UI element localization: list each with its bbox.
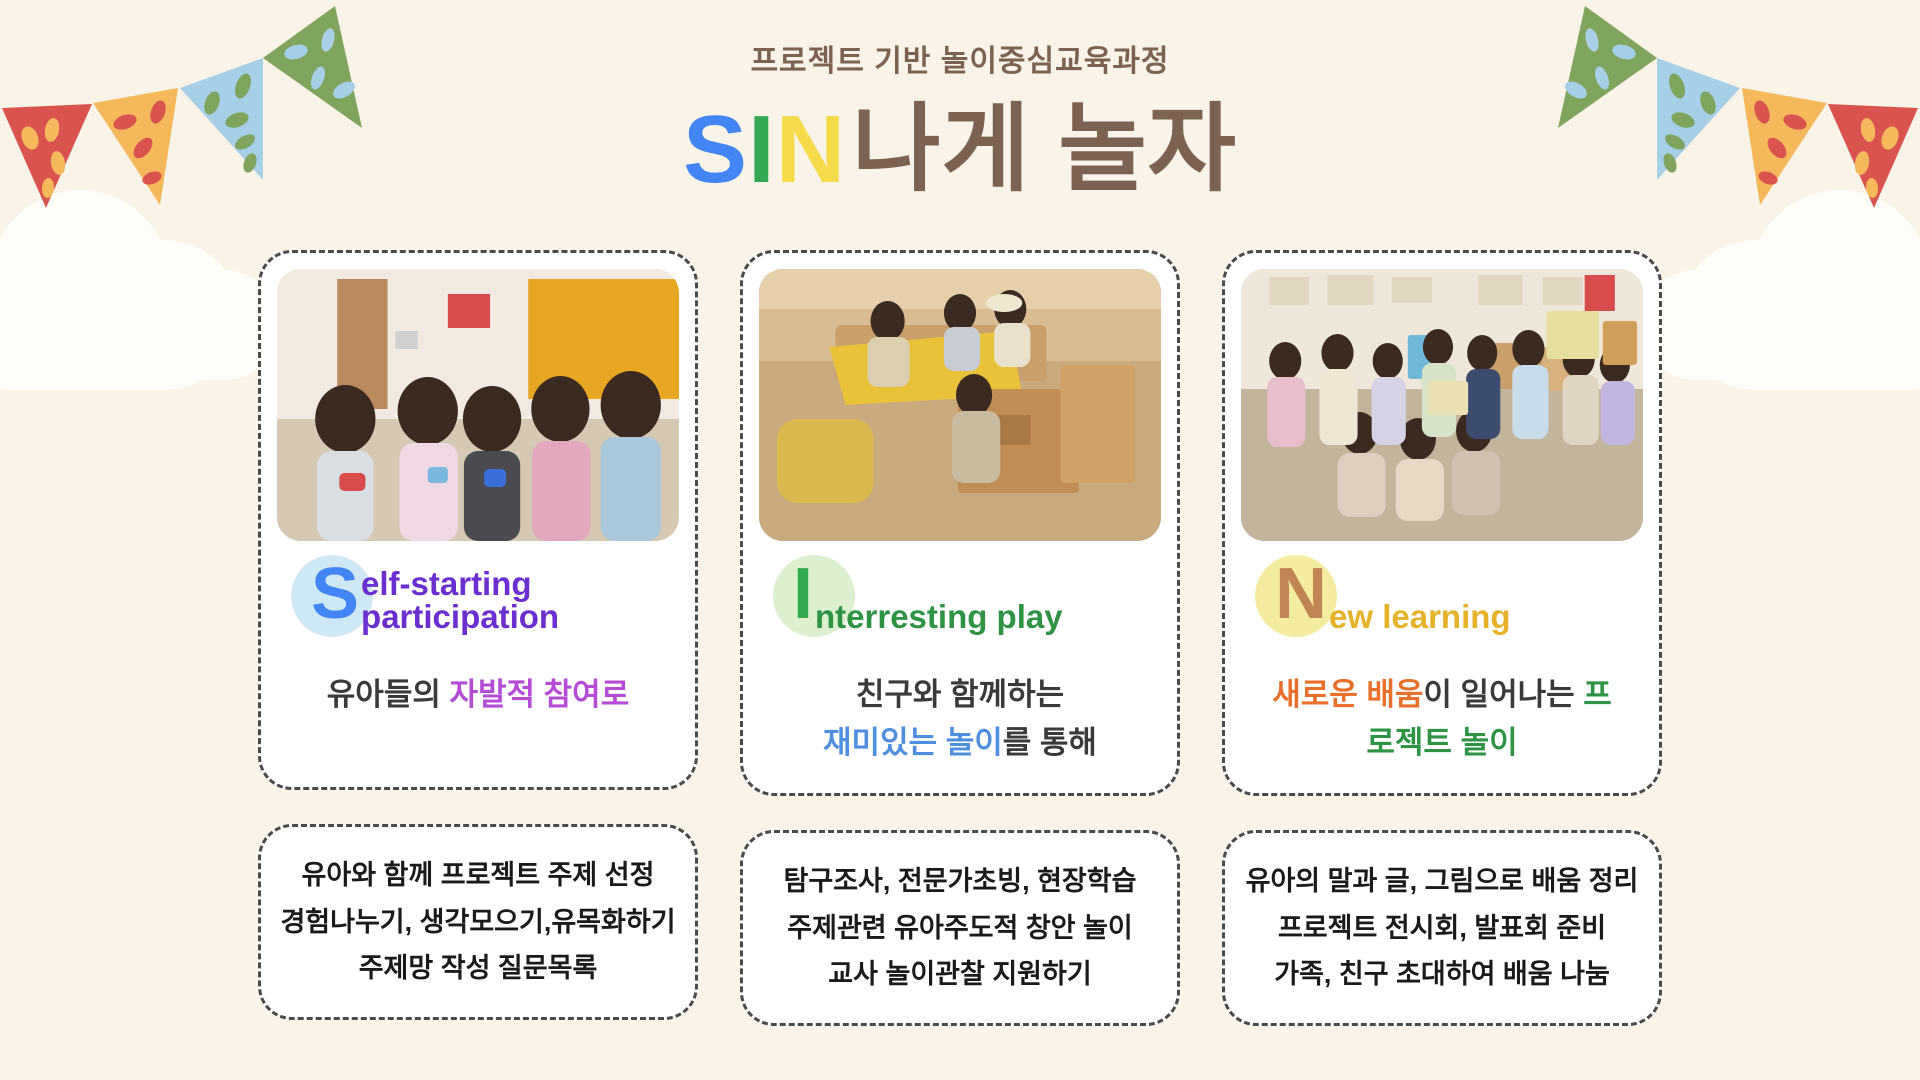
keyword-initial-letter: N bbox=[1275, 558, 1327, 630]
concept-description: 친구와 함께하는재미있는 놀이를 통해 bbox=[759, 671, 1161, 767]
description-segment: 를 통해 bbox=[1003, 725, 1097, 760]
card-column-2: Interresting play친구와 함께하는재미있는 놀이를 통해탐구조사… bbox=[740, 250, 1180, 1026]
title-letter-i: I bbox=[748, 102, 776, 198]
concept-description: 유아들의 자발적 참여로 bbox=[277, 671, 679, 719]
description-line: 친구와 함께하는 bbox=[759, 671, 1161, 719]
activity-line: 주제관련 유아주도적 창안 놀이 bbox=[757, 910, 1163, 946]
concept-description: 새로운 배움이 일어나는 프로젝트 놀이 bbox=[1241, 671, 1643, 767]
keyword-row: Self-starting participation bbox=[277, 551, 679, 637]
activity-card[interactable]: 유아와 함께 프로젝트 주제 선정경험나누기, 생각모으기,유목화하기주제망 작… bbox=[258, 824, 698, 1020]
concept-card[interactable]: Interresting play친구와 함께하는재미있는 놀이를 통해 bbox=[740, 250, 1180, 796]
keyword-label: nterresting play bbox=[815, 600, 1063, 637]
description-segment: 이 일어나는 bbox=[1423, 677, 1583, 712]
poster-canvas: 프로젝트 기반 놀이중심교육과정 SIN나게 놀자 bbox=[0, 0, 1920, 1080]
activity-card[interactable]: 탐구조사, 전문가초빙, 현장학습주제관련 유아주도적 창안 놀이교사 놀이관찰… bbox=[740, 830, 1180, 1026]
card-column-1: Self-starting participation유아들의 자발적 참여로유… bbox=[258, 250, 698, 1026]
keyword-label: ew learning bbox=[1329, 600, 1511, 637]
description-line: 로젝트 놀이 bbox=[1241, 719, 1643, 767]
title-rest: 나게 놀자 bbox=[852, 102, 1237, 198]
photo-children-cardboard-play bbox=[759, 269, 1161, 541]
activity-card[interactable]: 유아의 말과 글, 그림으로 배움 정리프로젝트 전시회, 발표회 준비가족, … bbox=[1222, 830, 1662, 1026]
activity-line: 주제망 작성 질문목록 bbox=[275, 950, 681, 986]
poster-title: SIN나게 놀자 bbox=[0, 102, 1920, 198]
keyword-row: Interresting play bbox=[759, 551, 1161, 637]
description-segment: 로젝트 놀이 bbox=[1366, 725, 1517, 760]
title-letter-s: S bbox=[683, 102, 748, 198]
keyword-initial-letter: I bbox=[793, 558, 813, 630]
activity-line: 가족, 친구 초대하여 배움 나눔 bbox=[1239, 956, 1645, 992]
poster-header: 프로젝트 기반 놀이중심교육과정 SIN나게 놀자 bbox=[0, 0, 1920, 198]
keyword-row: New learning bbox=[1241, 551, 1643, 637]
description-segment: 재미있는 놀이 bbox=[823, 725, 1003, 760]
concept-card[interactable]: New learning새로운 배움이 일어나는 프로젝트 놀이 bbox=[1222, 250, 1662, 796]
description-segment: 자발적 참여로 bbox=[449, 677, 629, 712]
photo-children-group-presentation bbox=[1241, 269, 1643, 541]
cards-grid: Self-starting participation유아들의 자발적 참여로유… bbox=[0, 250, 1920, 1026]
description-segment: 유아들의 bbox=[327, 677, 450, 712]
activity-line: 프로젝트 전시회, 발표회 준비 bbox=[1239, 910, 1645, 946]
card-column-3: New learning새로운 배움이 일어나는 프로젝트 놀이유아의 말과 글… bbox=[1222, 250, 1662, 1026]
description-line: 유아들의 자발적 참여로 bbox=[277, 671, 679, 719]
activity-line: 교사 놀이관찰 지원하기 bbox=[757, 956, 1163, 992]
description-segment: 프 bbox=[1583, 677, 1612, 712]
keyword-initial-letter: S bbox=[311, 558, 359, 630]
photo-children-holding-toys bbox=[277, 269, 679, 541]
description-line: 재미있는 놀이를 통해 bbox=[759, 719, 1161, 767]
activity-line: 탐구조사, 전문가초빙, 현장학습 bbox=[757, 863, 1163, 899]
activity-line: 유아와 함께 프로젝트 주제 선정 bbox=[275, 857, 681, 893]
title-letter-n: N bbox=[776, 102, 846, 198]
description-segment: 새로운 배움 bbox=[1272, 677, 1423, 712]
activity-line: 유아의 말과 글, 그림으로 배움 정리 bbox=[1239, 863, 1645, 899]
keyword-label: elf-starting participation bbox=[361, 567, 679, 637]
description-line: 새로운 배움이 일어나는 프 bbox=[1241, 671, 1643, 719]
poster-subtitle: 프로젝트 기반 놀이중심교육과정 bbox=[0, 44, 1920, 80]
description-segment: 친구와 함께하는 bbox=[856, 677, 1064, 712]
concept-card[interactable]: Self-starting participation유아들의 자발적 참여로 bbox=[258, 250, 698, 790]
activity-line: 경험나누기, 생각모으기,유목화하기 bbox=[275, 904, 681, 940]
